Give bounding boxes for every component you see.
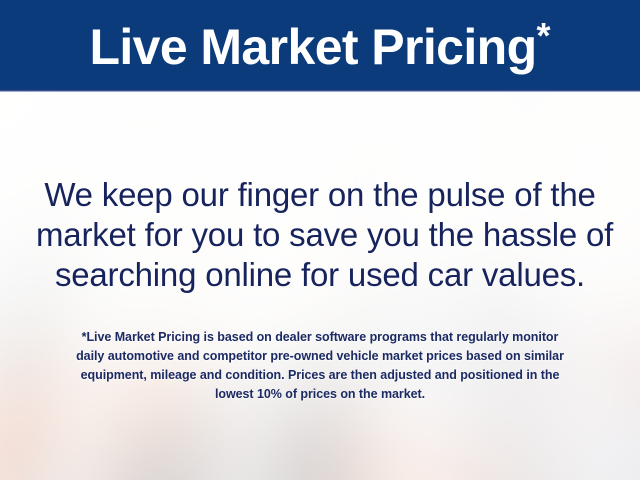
banner-content: We keep our finger on the pulse of the m…: [0, 92, 640, 480]
live-market-pricing-banner: Live Market Pricing* We keep our finger …: [0, 0, 640, 480]
page-title: Live Market Pricing*: [89, 18, 550, 75]
disclaimer-line-3: equipment, mileage and condition. Prices…: [36, 366, 604, 385]
disclaimer-line-4: lowest 10% of prices on the market.: [36, 385, 604, 404]
disclaimer-text: *Live Market Pricing is based on dealer …: [0, 295, 640, 404]
headline-line-2: market for you to save you the hassle of: [36, 215, 604, 255]
headline-line-3: searching online for used car values.: [36, 255, 604, 295]
disclaimer-line-1: *Live Market Pricing is based on dealer …: [36, 328, 604, 347]
header-band: Live Market Pricing*: [0, 0, 640, 92]
headline-text: We keep our finger on the pulse of the m…: [18, 92, 622, 295]
page-title-text: Live Market Pricing: [89, 19, 536, 75]
headline-line-1: We keep our finger on the pulse of the: [36, 175, 604, 215]
disclaimer-line-2: daily automotive and competitor pre-owne…: [36, 347, 604, 366]
page-title-asterisk: *: [537, 15, 551, 56]
